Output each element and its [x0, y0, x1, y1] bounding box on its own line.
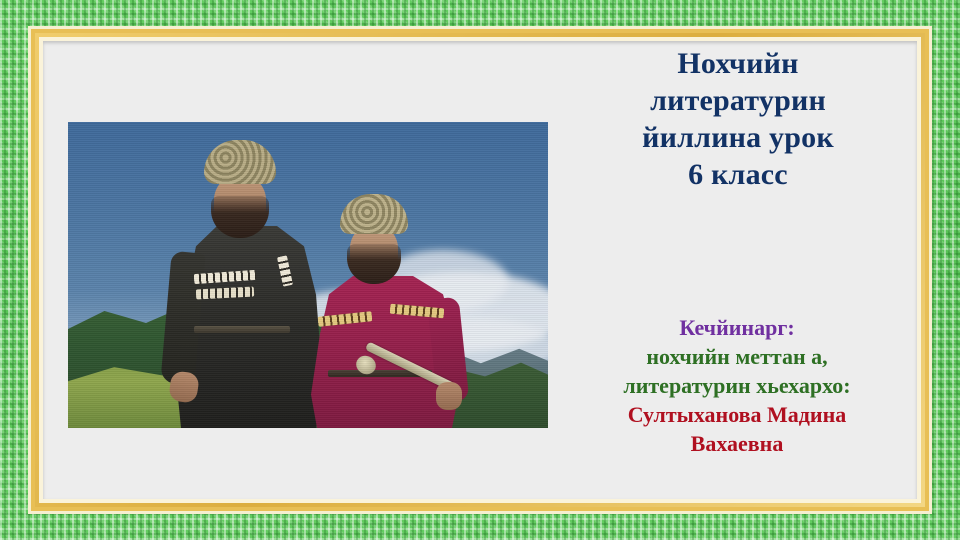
subtitle-line-role-2: литературин хьехархо: — [548, 371, 917, 400]
subtitle-line-author-patronymic: Вахаевна — [548, 429, 917, 458]
hand — [436, 382, 462, 410]
title-line-3: йиллина урок — [563, 119, 913, 156]
slide-subtitle: Кечйинарг: нохчийн меттан а, литературин… — [548, 313, 917, 458]
slide: Нохчийн литературин йиллина урок 6 класс… — [0, 0, 960, 540]
subtitle-line-role-1: нохчийн меттан а, — [548, 342, 917, 371]
subtitle-line-prepared-by: Кечйинарг: — [548, 313, 917, 342]
slide-title: Нохчийн литературин йиллина урок 6 класс — [563, 45, 913, 193]
figure-man-magenta-coat — [304, 194, 464, 428]
title-line-2: литературин — [563, 82, 913, 119]
title-line-4: 6 класс — [563, 156, 913, 193]
papakha-hat — [340, 194, 408, 234]
papakha-hat — [204, 140, 276, 184]
slide-canvas: Нохчийн литературин йиллина урок 6 класс… — [43, 41, 917, 499]
title-photo — [68, 122, 548, 428]
subtitle-line-author-name: Султыханова Мадина — [548, 400, 917, 429]
leather-belt — [194, 326, 290, 333]
title-line-1: Нохчийн — [563, 45, 913, 82]
